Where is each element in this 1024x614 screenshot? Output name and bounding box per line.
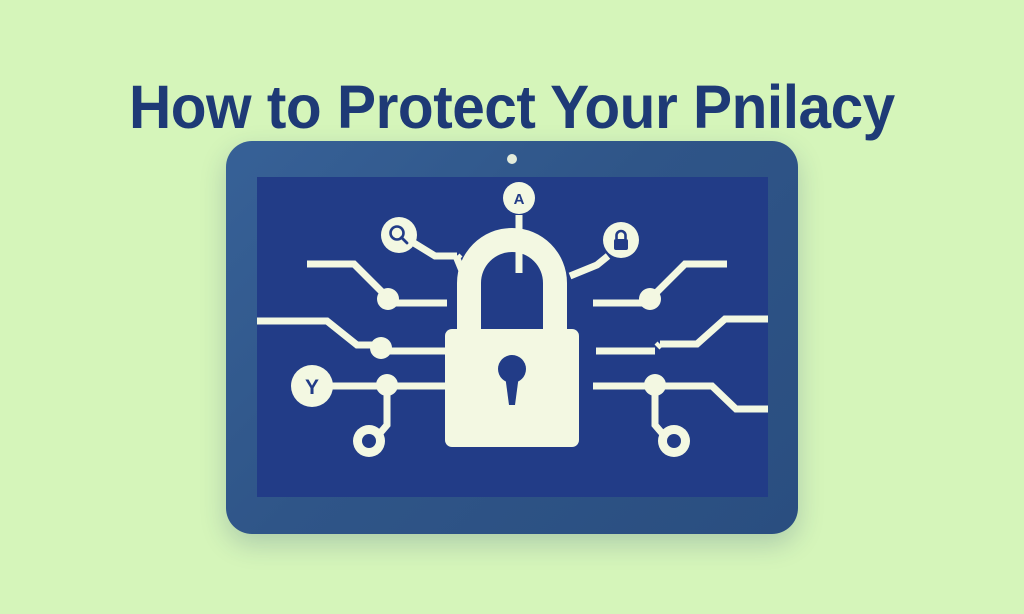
junction-dot-lower-right bbox=[644, 374, 666, 396]
junction-dot-upper-right bbox=[639, 288, 661, 310]
svg-text:A: A bbox=[514, 191, 525, 208]
tablet-device: A Y bbox=[226, 141, 798, 534]
trace-right-3 bbox=[593, 386, 768, 409]
trace-right-2j bbox=[657, 344, 660, 347]
small-lock-icon bbox=[603, 222, 639, 258]
trace-right-lock-stem bbox=[570, 256, 608, 276]
camera-dot-icon bbox=[507, 154, 517, 164]
padlock-icon bbox=[445, 228, 579, 447]
left-circuit-traces bbox=[257, 240, 465, 439]
search-icon bbox=[381, 217, 417, 253]
trace-right-2a bbox=[660, 319, 768, 344]
security-illustration: A Y bbox=[257, 177, 768, 497]
ring-node-c bbox=[353, 425, 385, 457]
junction-dot-lower-left bbox=[376, 374, 398, 396]
trace-search-1 bbox=[409, 240, 457, 256]
letter-y-badge-icon: Y bbox=[291, 365, 333, 407]
tablet-screen: A Y bbox=[257, 177, 768, 497]
junction-dot-upper-left bbox=[377, 288, 399, 310]
svg-text:Y: Y bbox=[305, 376, 319, 399]
letter-a-badge-icon: A bbox=[503, 182, 535, 214]
junction-dot-mid-left bbox=[370, 337, 392, 359]
trace-left-2 bbox=[257, 321, 374, 345]
page-root: How to Protect Your Pnilacy bbox=[0, 0, 1024, 614]
right-circuit-traces bbox=[570, 256, 768, 439]
ring-node-o bbox=[658, 425, 690, 457]
page-title: How to Protect Your Pnilacy bbox=[129, 75, 895, 139]
trace-right-1 bbox=[651, 264, 727, 296]
